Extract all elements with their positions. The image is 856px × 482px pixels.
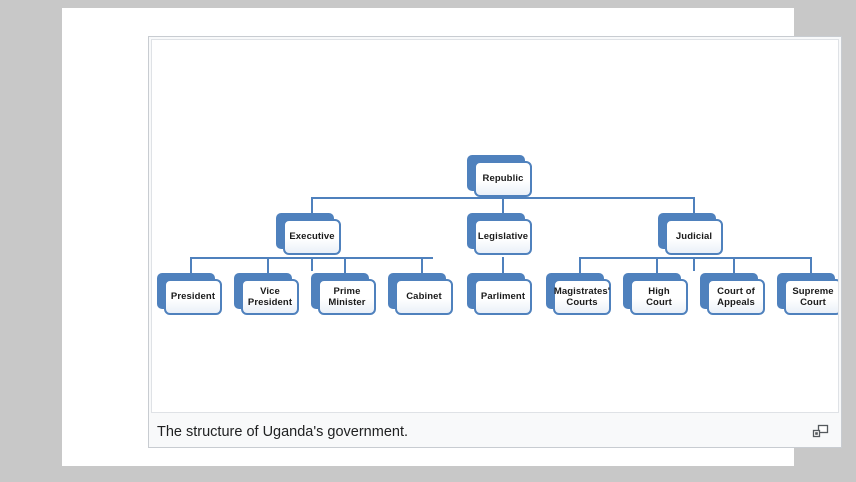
node-executive[interactable]: Executive — [276, 213, 334, 249]
image-thumbnail-frame: Republic Executive Legislative — [148, 36, 842, 448]
caption-text: The structure of Uganda's government. — [157, 423, 408, 441]
node-face: Legislative — [474, 219, 532, 255]
node-label: Cabinet — [403, 291, 445, 303]
node-label: Judicial — [673, 231, 715, 243]
node-legislative[interactable]: Legislative — [467, 213, 525, 249]
node-judicial[interactable]: Judicial — [658, 213, 716, 249]
node-face: High Court — [630, 279, 688, 315]
node-label: Prime Minister — [320, 286, 374, 309]
node-face: Judicial — [665, 219, 723, 255]
node-cabinet[interactable]: Cabinet — [388, 273, 446, 309]
node-republic[interactable]: Republic — [467, 155, 525, 191]
node-high-court[interactable]: High Court — [623, 273, 681, 309]
node-face: Parliment — [474, 279, 532, 315]
node-label: President — [168, 291, 218, 303]
node-face: Republic — [474, 161, 532, 197]
article-page-sheet: Republic Executive Legislative — [62, 8, 794, 466]
node-face: President — [164, 279, 222, 315]
node-label: High Court — [632, 286, 686, 309]
thumbnail-caption-bar: The structure of Uganda's government. — [151, 415, 839, 447]
node-label: Court of Appeals — [709, 286, 763, 309]
enlarge-icon[interactable] — [812, 424, 829, 439]
node-prime-minister[interactable]: Prime Minister — [311, 273, 369, 309]
node-president[interactable]: President — [157, 273, 215, 309]
connector-judicial-bus — [579, 257, 810, 259]
connector-executive-bus — [190, 257, 433, 259]
connector-judicial-stem — [693, 257, 695, 271]
node-face: Magistrates' Courts — [553, 279, 611, 315]
node-label: Republic — [480, 173, 527, 185]
node-face: Supreme Court — [784, 279, 839, 315]
node-face: Cabinet — [395, 279, 453, 315]
node-label: Legislative — [475, 231, 531, 243]
node-face: Prime Minister — [318, 279, 376, 315]
node-label: Magistrates' Courts — [551, 286, 613, 309]
node-label: Supreme Court — [786, 286, 839, 309]
diagram-image[interactable]: Republic Executive Legislative — [151, 39, 839, 413]
node-face: Court of Appeals — [707, 279, 765, 315]
node-face: Executive — [283, 219, 341, 255]
node-label: Parliment — [478, 291, 528, 303]
node-face: Vice President — [241, 279, 299, 315]
connector-executive-stem — [311, 257, 313, 271]
node-parliment[interactable]: Parliment — [467, 273, 525, 309]
node-vice-president[interactable]: Vice President — [234, 273, 292, 309]
node-magistrates-courts[interactable]: Magistrates' Courts — [546, 273, 604, 309]
org-chart-canvas: Republic Executive Legislative — [152, 40, 838, 412]
node-supreme-court[interactable]: Supreme Court — [777, 273, 835, 309]
node-label: Executive — [286, 231, 337, 243]
node-court-of-appeals[interactable]: Court of Appeals — [700, 273, 758, 309]
node-label: Vice President — [243, 286, 297, 309]
